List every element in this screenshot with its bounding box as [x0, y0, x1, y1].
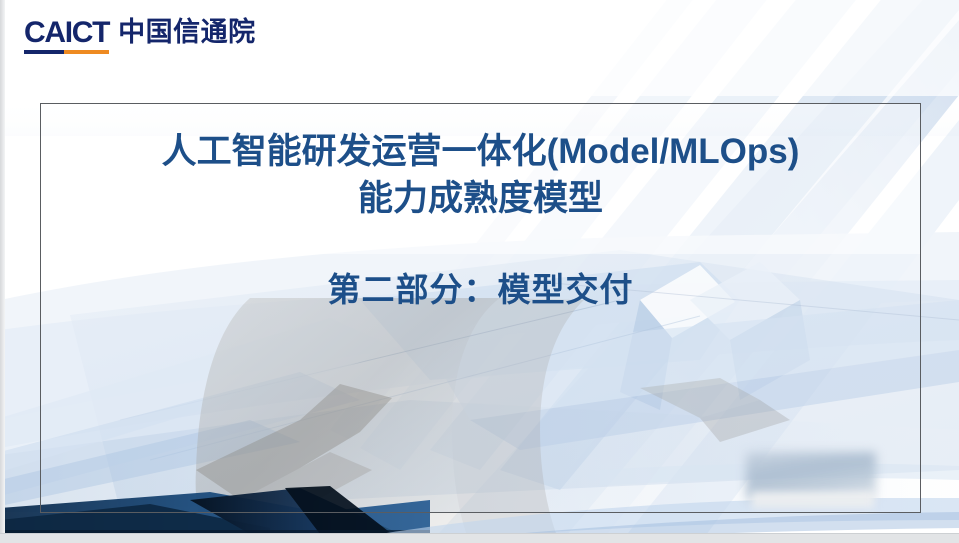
caict-chinese-name: 中国信通院: [118, 17, 256, 55]
page-subtitle: 第二部分：模型交付: [40, 268, 921, 312]
title-line-1: 人工智能研发运营一体化(Model/MLOps): [40, 128, 921, 175]
blurred-redaction-block-shadow: [752, 492, 874, 508]
title-line-2: 能力成熟度模型: [40, 175, 921, 222]
page-bottom-edge-strip: [0, 534, 959, 543]
caict-underline-navy-segment: [24, 50, 64, 54]
caict-wordmark-text: CAICT: [24, 18, 109, 48]
caict-underline-orange-segment: [64, 50, 109, 54]
page-bottom-hairline: [0, 533, 959, 534]
presentation-slide: CAICT 中国信通院 人工智能研发运营一体化(Model/MLOps) 能力成…: [0, 0, 959, 543]
page-left-edge-strip: [0, 0, 5, 543]
caict-wordmark: CAICT: [24, 18, 109, 55]
caict-underline: [24, 50, 109, 54]
page-title: 人工智能研发运营一体化(Model/MLOps) 能力成熟度模型: [40, 128, 921, 222]
subtitle-line-1: 第二部分：模型交付: [40, 268, 921, 312]
caict-logo: CAICT 中国信通院: [24, 17, 256, 55]
